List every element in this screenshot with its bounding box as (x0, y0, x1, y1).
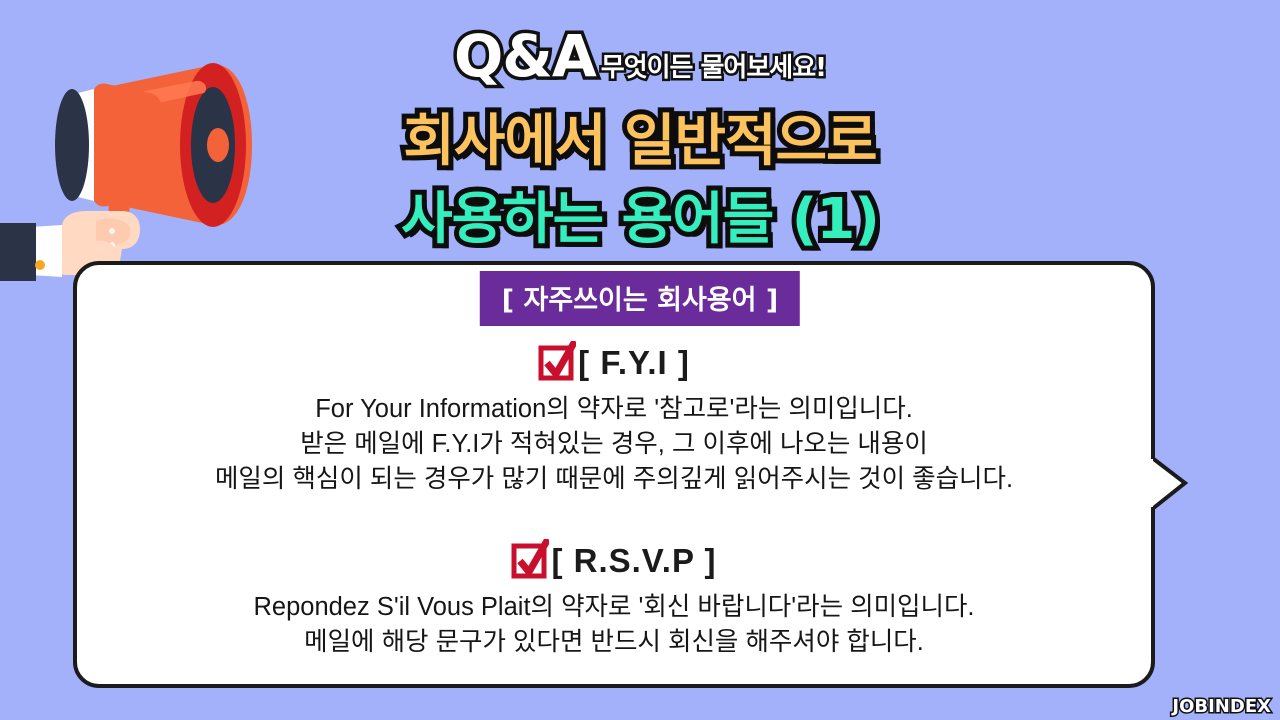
term-block-fyi: [ F.Y.I ] For Your Information의 약자로 '참고로… (73, 340, 1155, 497)
term-body-line: 메일에 해당 문구가 있다면 반드시 회신을 해주셔야 합니다. (73, 625, 1155, 660)
page-title-line-1: 회사에서 일반적으로 (0, 96, 1280, 177)
term-label: [ F.Y.I ] (578, 344, 690, 382)
term-body: Repondez S'il Vous Plait의 약자로 '회신 바랍니다'라… (73, 590, 1155, 660)
term-body-line: For Your Information의 약자로 '참고로'라는 의미입니다. (73, 392, 1155, 427)
qa-row: Q&A무엇이든 물어보세요! (0, 22, 1280, 90)
qa-subtitle: 무엇이든 물어보세요! (601, 53, 826, 83)
term-label: [ R.S.V.P ] (551, 542, 716, 580)
section-banner: [ 자주쓰이는 회사용어 ] (480, 271, 800, 326)
term-heading: [ F.Y.I ] (73, 340, 1155, 386)
term-heading: [ R.S.V.P ] (73, 538, 1155, 584)
checkbox-checked-icon (538, 341, 576, 381)
term-body-line: Repondez S'il Vous Plait의 약자로 '회신 바랍니다'라… (73, 590, 1155, 625)
slide-canvas: Q&A무엇이든 물어보세요! 회사에서 일반적으로 사용하는 용어들 (1) [… (0, 0, 1280, 720)
term-block-rsvp: [ R.S.V.P ] Repondez S'il Vous Plait의 약자… (73, 538, 1155, 660)
qa-label: Q&A (454, 22, 596, 90)
speech-bubble-tail-icon (1151, 455, 1201, 515)
term-body-line: 받은 메일에 F.Y.I가 적혀있는 경우, 그 이후에 나오는 내용이 (73, 427, 1155, 462)
term-body: For Your Information의 약자로 '참고로'라는 의미입니다.… (73, 392, 1155, 497)
checkbox-checked-icon (511, 539, 549, 579)
watermark-logo: JOBINDEX (1172, 696, 1271, 717)
page-title-line-2: 사용하는 용어들 (1) (0, 174, 1280, 255)
term-body-line: 메일의 핵심이 되는 경우가 많기 때문에 주의깊게 읽어주시는 것이 좋습니다… (73, 462, 1155, 497)
